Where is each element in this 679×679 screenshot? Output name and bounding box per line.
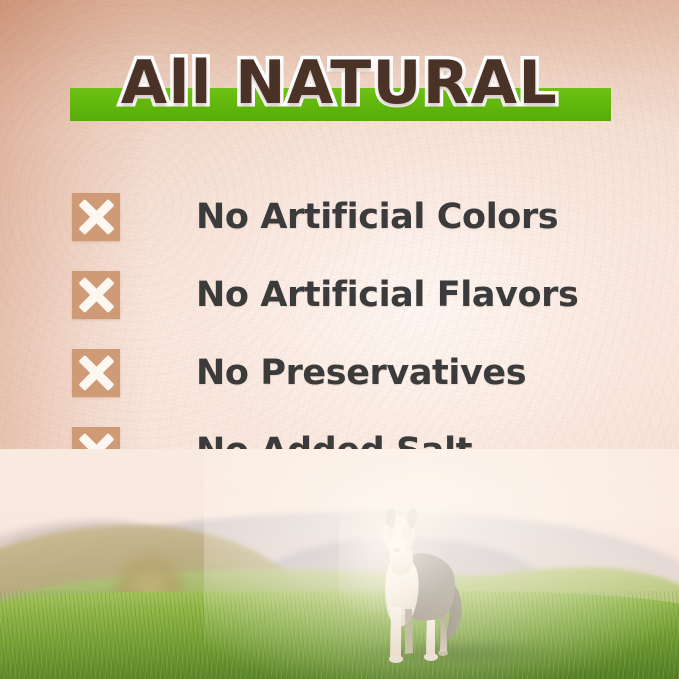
x-mark-icon (72, 349, 120, 397)
claims-list: No Artificial Colors No Artificial Flavo… (72, 178, 632, 490)
list-item: No Preservatives (72, 334, 632, 412)
list-item: No Artificial Colors (72, 178, 632, 256)
claim-label: No Artificial Colors (196, 197, 558, 237)
claim-label: No Preservatives (196, 353, 526, 393)
page-title: All NATURAL (0, 52, 679, 114)
dog-illustration (355, 505, 475, 671)
foreground-grass (0, 591, 679, 679)
claim-label: No Artificial Flavors (196, 275, 578, 315)
list-item: No Artificial Flavors (72, 256, 632, 334)
x-mark-icon (72, 193, 120, 241)
product-feature-graphic: All NATURAL No Artificial Colors No Arti… (0, 0, 679, 679)
grass-texture (0, 591, 679, 679)
x-mark-icon (72, 271, 120, 319)
lifestyle-photo (0, 449, 679, 679)
